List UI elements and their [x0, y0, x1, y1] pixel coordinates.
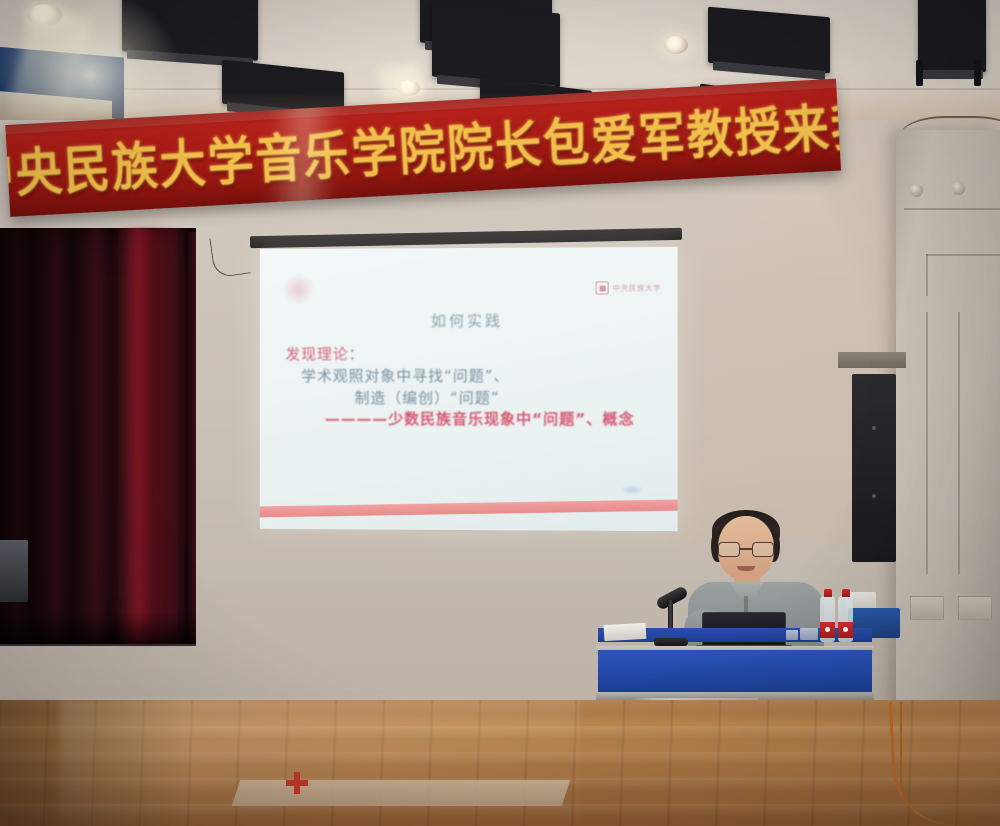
stage-spotlight-icon	[432, 2, 560, 87]
slide-line: 发现理论：	[285, 344, 663, 366]
desk-item	[786, 630, 798, 640]
light-bracket-icon	[974, 60, 981, 86]
slide-accent-band	[260, 499, 678, 517]
slide-body: 发现理论： 学术观照对象中寻找“问题”、 制造（编创）“问题” ————少数民族…	[285, 344, 663, 432]
bottle-label	[838, 622, 853, 638]
podium-papers[interactable]	[604, 623, 647, 641]
speaker-screw-icon	[872, 426, 876, 430]
logo-text: 中央民族大学	[613, 283, 662, 293]
water-bottle[interactable]	[838, 596, 853, 642]
slide-line: 制造（编创）“问题”	[355, 387, 664, 409]
wall-ledge	[838, 352, 906, 368]
slide-title: 如何实践	[260, 309, 678, 331]
curtain-edge	[186, 232, 196, 642]
podium-front	[598, 650, 872, 696]
downlight-icon	[664, 36, 688, 54]
microphone-base	[654, 638, 688, 646]
downlight-icon	[28, 4, 62, 26]
glasses-icon	[718, 542, 774, 558]
wall-speaker	[852, 374, 896, 562]
desk-item	[800, 628, 818, 640]
panel-groove	[926, 254, 928, 296]
speaker-screw-icon	[872, 494, 876, 498]
floor-shadow	[0, 700, 190, 826]
panel-knob-icon[interactable]	[952, 182, 965, 195]
stage-spotlight-icon	[122, 0, 258, 61]
university-logo: 中央民族大学	[596, 281, 662, 294]
lens-right	[752, 542, 774, 557]
photo-scene: 热烈欢迎中央民族大学音乐学院院长包爱军教授来我校讲学！ 中央民族大学 如何实践 …	[0, 0, 1000, 826]
panel-line	[926, 254, 1000, 256]
projection-screen: 中央民族大学 如何实践 发现理论： 学术观照对象中寻找“问题”、 制造（编创）“…	[260, 247, 678, 531]
slide-line: 学术观照对象中寻找“问题”、	[301, 366, 663, 388]
panel-plate	[958, 596, 992, 620]
slide-watermark	[283, 275, 313, 305]
lens-left	[718, 542, 740, 557]
person-mouth	[737, 566, 755, 571]
water-bottle[interactable]	[820, 596, 835, 642]
curtain-highlight	[118, 228, 176, 644]
panel-knob-icon[interactable]	[910, 184, 923, 197]
lens-bridge	[740, 548, 752, 550]
light-bracket-icon	[916, 60, 923, 86]
bottle-label	[820, 622, 835, 638]
stage-equipment-box	[0, 540, 28, 602]
curtain-bottom-shadow	[0, 612, 196, 646]
projected-slide: 中央民族大学 如何实践 发现理论： 学术观照对象中寻找“问题”、 制造（编创）“…	[260, 247, 678, 531]
logo-mark-icon	[596, 281, 609, 294]
panel-line	[904, 208, 1000, 210]
slide-decoration	[621, 485, 643, 495]
right-wall-panel[interactable]	[896, 130, 1000, 720]
floor-light-strip	[232, 780, 570, 806]
power-cable	[900, 702, 946, 822]
stage-spotlight-icon	[708, 7, 830, 74]
slide-line: ————少数民族音乐现象中“问题”、概念	[325, 409, 663, 431]
panel-groove	[926, 312, 928, 574]
floor-marker-cross	[286, 772, 308, 794]
panel-plate	[910, 596, 944, 620]
panel-groove	[958, 312, 960, 574]
